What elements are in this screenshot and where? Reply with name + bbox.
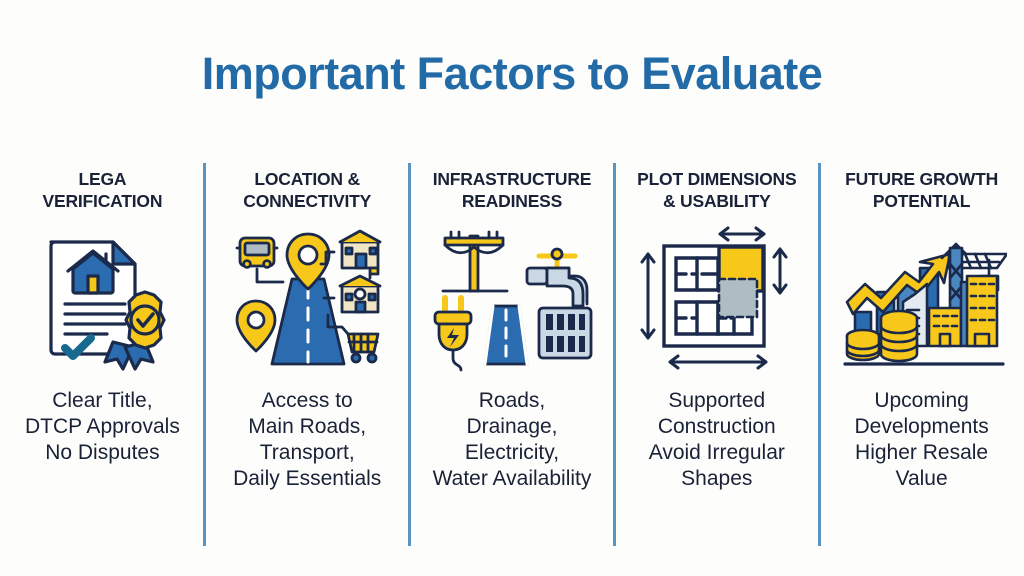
page-title: Important Factors to Evaluate — [0, 48, 1024, 100]
factor-header: PLOT DIMENSIONS & USABILITY — [637, 168, 796, 212]
growth-chart-city-icon — [837, 224, 1007, 374]
factor-description: Supported Construction Avoid Irregular S… — [649, 388, 785, 492]
factor-description: Access to Main Roads, Transport, Daily E… — [233, 388, 381, 492]
factor-column-future-growth: FUTURE GROWTH POTENTIAL — [819, 163, 1024, 546]
factor-column-plot-dimensions: PLOT DIMENSIONS & USABILITY — [614, 163, 819, 546]
legal-document-certificate-icon — [27, 224, 177, 374]
factors-columns: LEGA VERIFICATION — [0, 163, 1024, 546]
utilities-infrastructure-icon — [427, 224, 597, 374]
factor-description: Clear Title, DTCP Approvals No Disputes — [25, 388, 180, 466]
factor-column-infrastructure-readiness: INFRASTRUCTURE READINESS — [410, 163, 615, 546]
road-connectivity-map-icon — [230, 224, 385, 374]
factor-header: INFRASTRUCTURE READINESS — [433, 168, 592, 212]
factor-description: Roads, Drainage, Electricity, Water Avai… — [433, 388, 592, 492]
factor-column-legal-verification: LEGA VERIFICATION — [0, 163, 205, 546]
factor-header: LEGA VERIFICATION — [43, 168, 163, 212]
factor-column-location-connectivity: LOCATION & CONNECTIVITY — [205, 163, 410, 546]
factor-description: Upcoming Developments Higher Resale Valu… — [854, 388, 988, 492]
factor-header: LOCATION & CONNECTIVITY — [243, 168, 371, 212]
factor-header: FUTURE GROWTH POTENTIAL — [845, 168, 998, 212]
floor-plan-dimensions-icon — [634, 224, 799, 374]
